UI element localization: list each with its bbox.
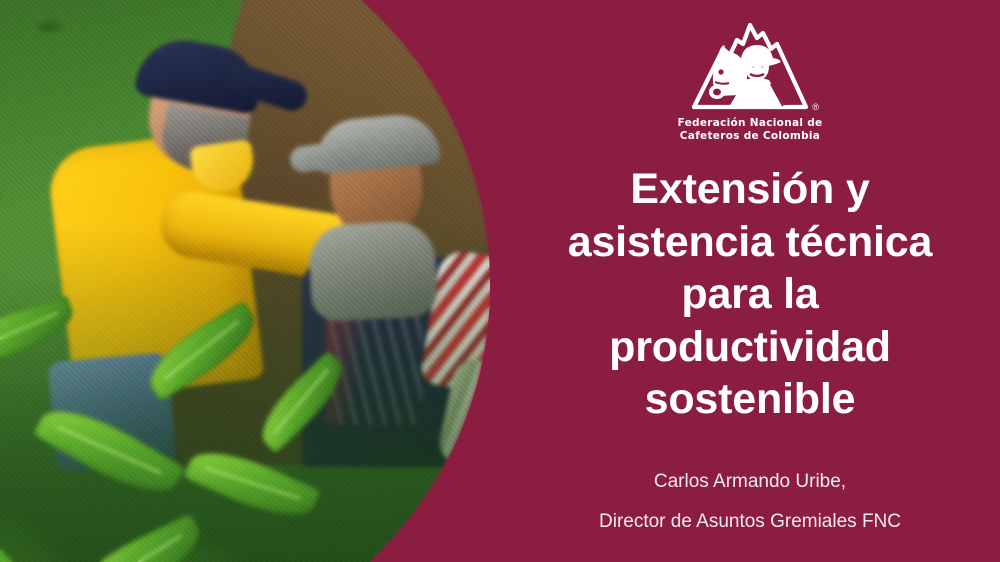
photo-grain: [0, 0, 490, 562]
speaker-block: Carlos Armando Uribe, Director de Asunto…: [500, 472, 1000, 531]
presentation-slide: ® Federación Nacional de Cafeteros de Co…: [0, 0, 1000, 562]
speaker-name: Carlos Armando Uribe,: [500, 472, 1000, 491]
registered-trademark-icon: ®: [812, 103, 819, 112]
juan-valdez-mountain-icon: ®: [685, 22, 815, 114]
photo-background: [0, 0, 490, 562]
fnc-logo-text: Federación Nacional de Cafeteros de Colo…: [678, 117, 823, 143]
hero-photo: [0, 0, 490, 562]
content-column: ® Federación Nacional de Cafeteros de Co…: [500, 0, 1000, 562]
slide-title: Extensión y asistencia técnica para la p…: [515, 163, 985, 425]
speaker-role: Director de Asuntos Gremiales FNC: [500, 512, 1000, 531]
fnc-logo: ® Federación Nacional de Cafeteros de Co…: [672, 22, 828, 143]
